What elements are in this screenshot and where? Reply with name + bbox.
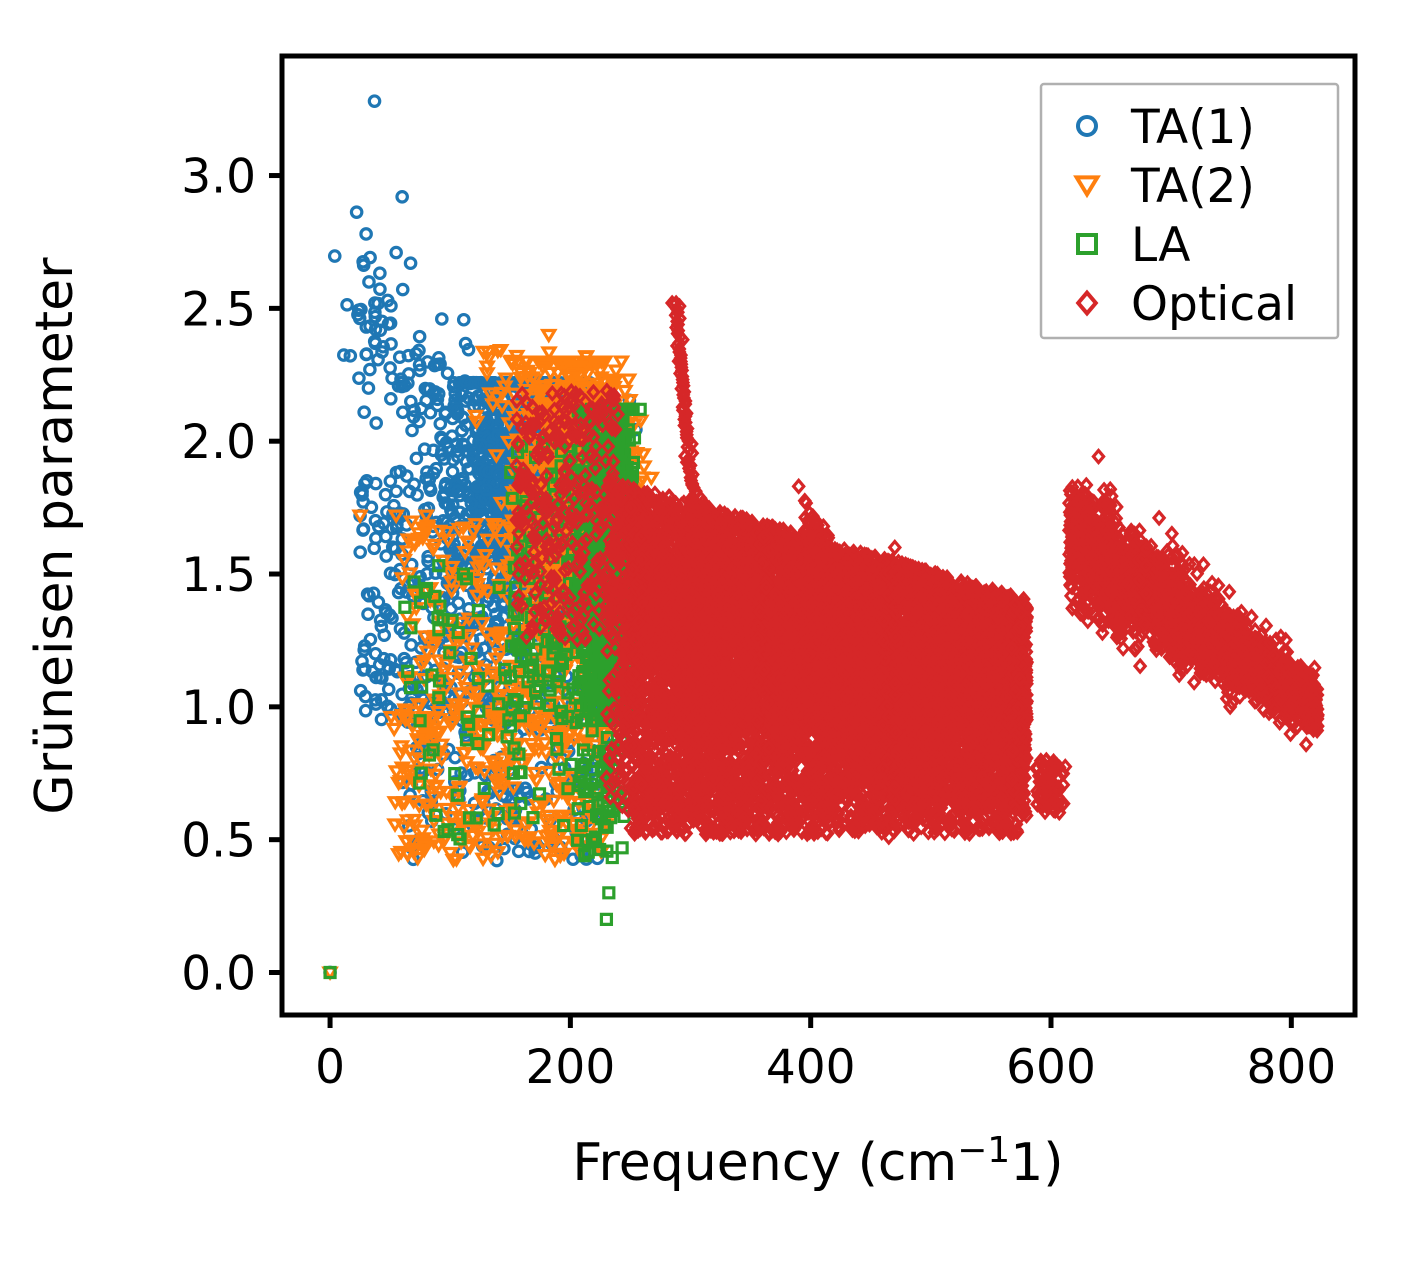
legend[interactable]: TA(1)TA(2)LAOptical	[1041, 84, 1338, 338]
y-tick-label: 1.5	[181, 548, 256, 603]
legend-label-ta2: TA(2)	[1130, 159, 1255, 214]
x-tick-label: 200	[526, 1040, 616, 1095]
plot-canvas: 0200400600800 0.00.51.01.52.02.53.0 Freq…	[0, 0, 1413, 1264]
x-tick-label: 800	[1246, 1040, 1336, 1095]
x-tick-label: 400	[766, 1040, 856, 1095]
y-tick-label: 2.0	[181, 415, 256, 470]
scatter-figure: 0200400600800 0.00.51.01.52.02.53.0 Freq…	[0, 0, 1413, 1264]
legend-label-la: LA	[1131, 218, 1190, 273]
y-axis-ticks: 0.00.51.01.52.02.53.0	[181, 150, 282, 1002]
x-axis-ticks: 0200400600800	[315, 1015, 1336, 1095]
y-tick-label: 2.5	[181, 282, 256, 337]
y-axis-title: Grüneisen parameter	[25, 257, 85, 815]
y-tick-label: 0.0	[181, 946, 256, 1001]
x-tick-label: 600	[1006, 1040, 1096, 1095]
y-tick-label: 1.0	[181, 681, 256, 736]
y-tick-label: 0.5	[181, 814, 256, 869]
legend-label-optical: Optical	[1131, 277, 1297, 332]
y-tick-label: 3.0	[181, 150, 256, 205]
legend-label-ta1: TA(1)	[1130, 100, 1255, 155]
x-axis-title: Frequency (cm−11)	[572, 1130, 1063, 1193]
x-tick-label: 0	[315, 1040, 345, 1095]
